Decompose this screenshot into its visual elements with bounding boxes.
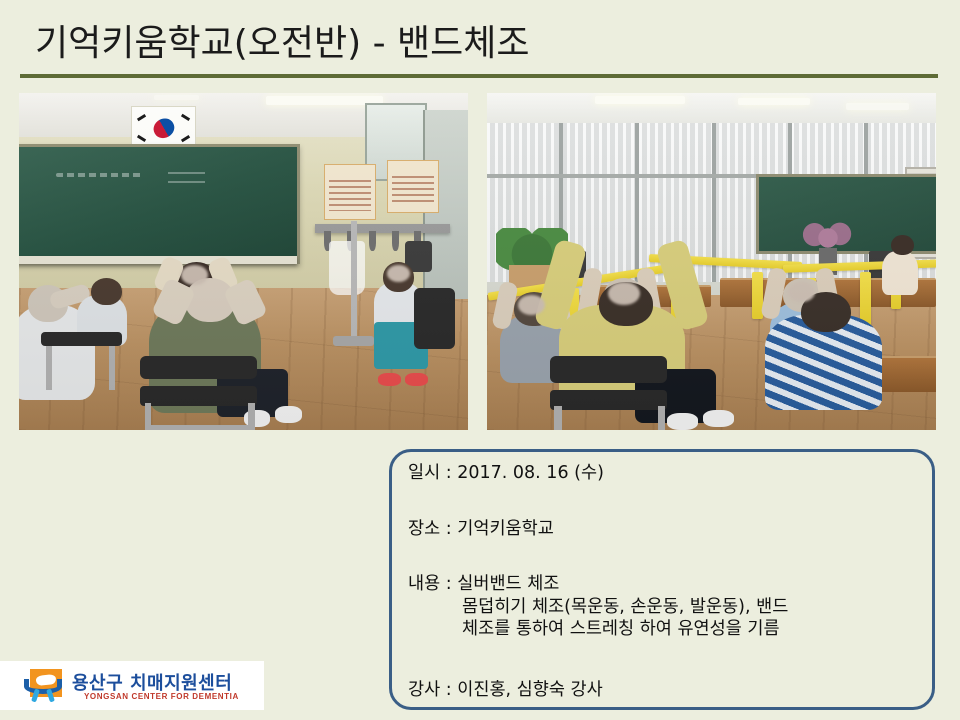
photo-classroom-neck-exercise	[19, 93, 468, 430]
info-content-row: 내용 : 실버밴드 체조	[408, 576, 922, 594]
info-place-label: 장소 :	[408, 519, 452, 539]
info-content-label: 내용 :	[408, 574, 452, 594]
photo-yellow-band-exercise	[487, 93, 936, 430]
info-instructor-row: 강사 : 이진홍, 심향숙 강사	[408, 682, 922, 700]
info-panel: 일시 : 2017. 08. 16 (수) 장소 : 기억키움학교 내용 : 실…	[389, 449, 935, 710]
info-instructor-value: 이진홍, 심향숙 강사	[457, 680, 603, 700]
info-content-line-2: 체조를 통하여 스트레칭 하여 유연성을 기름	[408, 621, 922, 639]
info-content-line-0: 실버밴드 체조	[457, 574, 559, 594]
info-content-line-1: 몸덥히기 체조(목운동, 손운동, 발운동), 밴드	[408, 599, 922, 617]
yongsan-dementia-center-mark-icon	[24, 669, 62, 702]
page-title: 기억키움학교(오전반) - 밴드체조	[35, 14, 530, 66]
title-divider	[20, 74, 938, 78]
info-place-row: 장소 : 기억키움학교	[408, 521, 922, 539]
info-date-label: 일시 :	[408, 463, 452, 483]
logo-english-name: YONGSAN CENTER FOR DEMENTIA	[84, 692, 239, 701]
info-place-value: 기억키움학교	[457, 519, 554, 539]
info-instructor-label: 강사 :	[408, 680, 452, 700]
slide-root: 기억키움학교(오전반) - 밴드체조	[0, 0, 960, 720]
organization-logo: 용산구 치매지원센터 YONGSAN CENTER FOR DEMENTIA	[0, 661, 264, 710]
info-date-row: 일시 : 2017. 08. 16 (수)	[408, 465, 922, 483]
info-date-value: 2017. 08. 16 (수)	[457, 463, 604, 483]
